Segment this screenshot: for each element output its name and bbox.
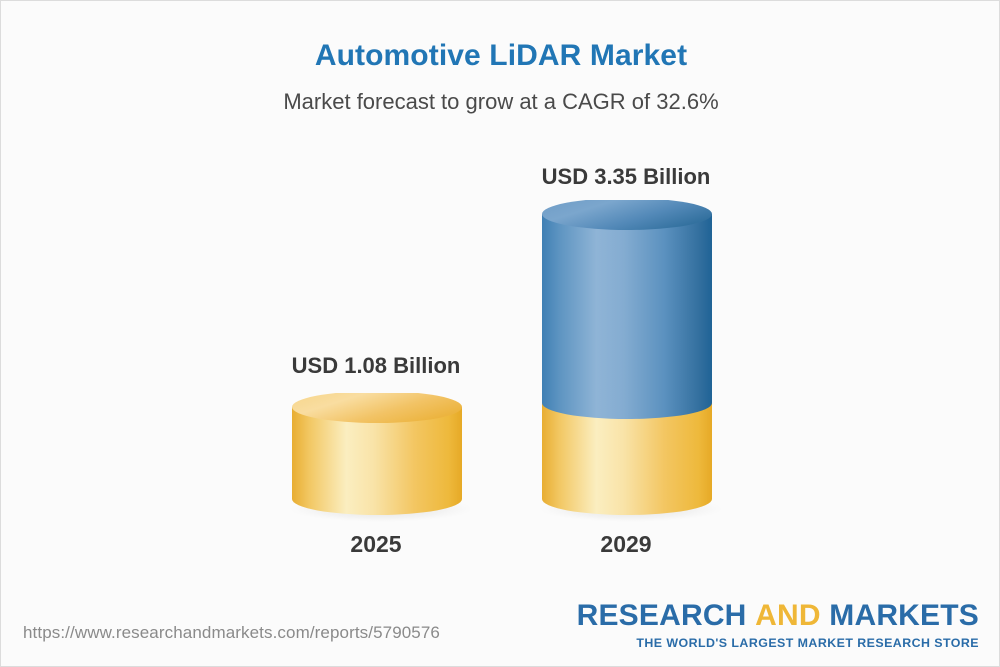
page-title: Automotive LiDAR Market	[1, 39, 1000, 73]
brand-word-research: RESEARCH	[577, 599, 747, 632]
brand-wordmark: RESEARCH AND MARKETS	[577, 601, 979, 631]
brand-word-markets: MARKETS	[829, 599, 979, 632]
cylinder-2025-body	[292, 407, 462, 515]
cylinder-2029-growth-segment	[542, 214, 712, 419]
source-url[interactable]: https://www.researchandmarkets.com/repor…	[23, 623, 440, 643]
cylinder-2029-svg	[533, 200, 721, 523]
cylinder-bar-2025	[284, 393, 470, 523]
cylinder-bar-2029	[533, 200, 721, 523]
category-label-2029: 2029	[531, 531, 721, 558]
value-label-2029: USD 3.35 Billion	[531, 164, 721, 190]
brand-tagline: THE WORLD'S LARGEST MARKET RESEARCH STOR…	[577, 637, 979, 649]
category-label-2025: 2025	[282, 531, 470, 558]
brand-word-and: AND	[755, 599, 821, 632]
brand-logo: RESEARCH AND MARKETS THE WORLD'S LARGEST…	[577, 601, 979, 649]
value-label-2025: USD 1.08 Billion	[282, 353, 470, 379]
cylinder-2025-svg	[284, 393, 470, 523]
chart-canvas: Automotive LiDAR Market Market forecast …	[0, 0, 1000, 667]
chart-subtitle: Market forecast to grow at a CAGR of 32.…	[1, 89, 1000, 115]
